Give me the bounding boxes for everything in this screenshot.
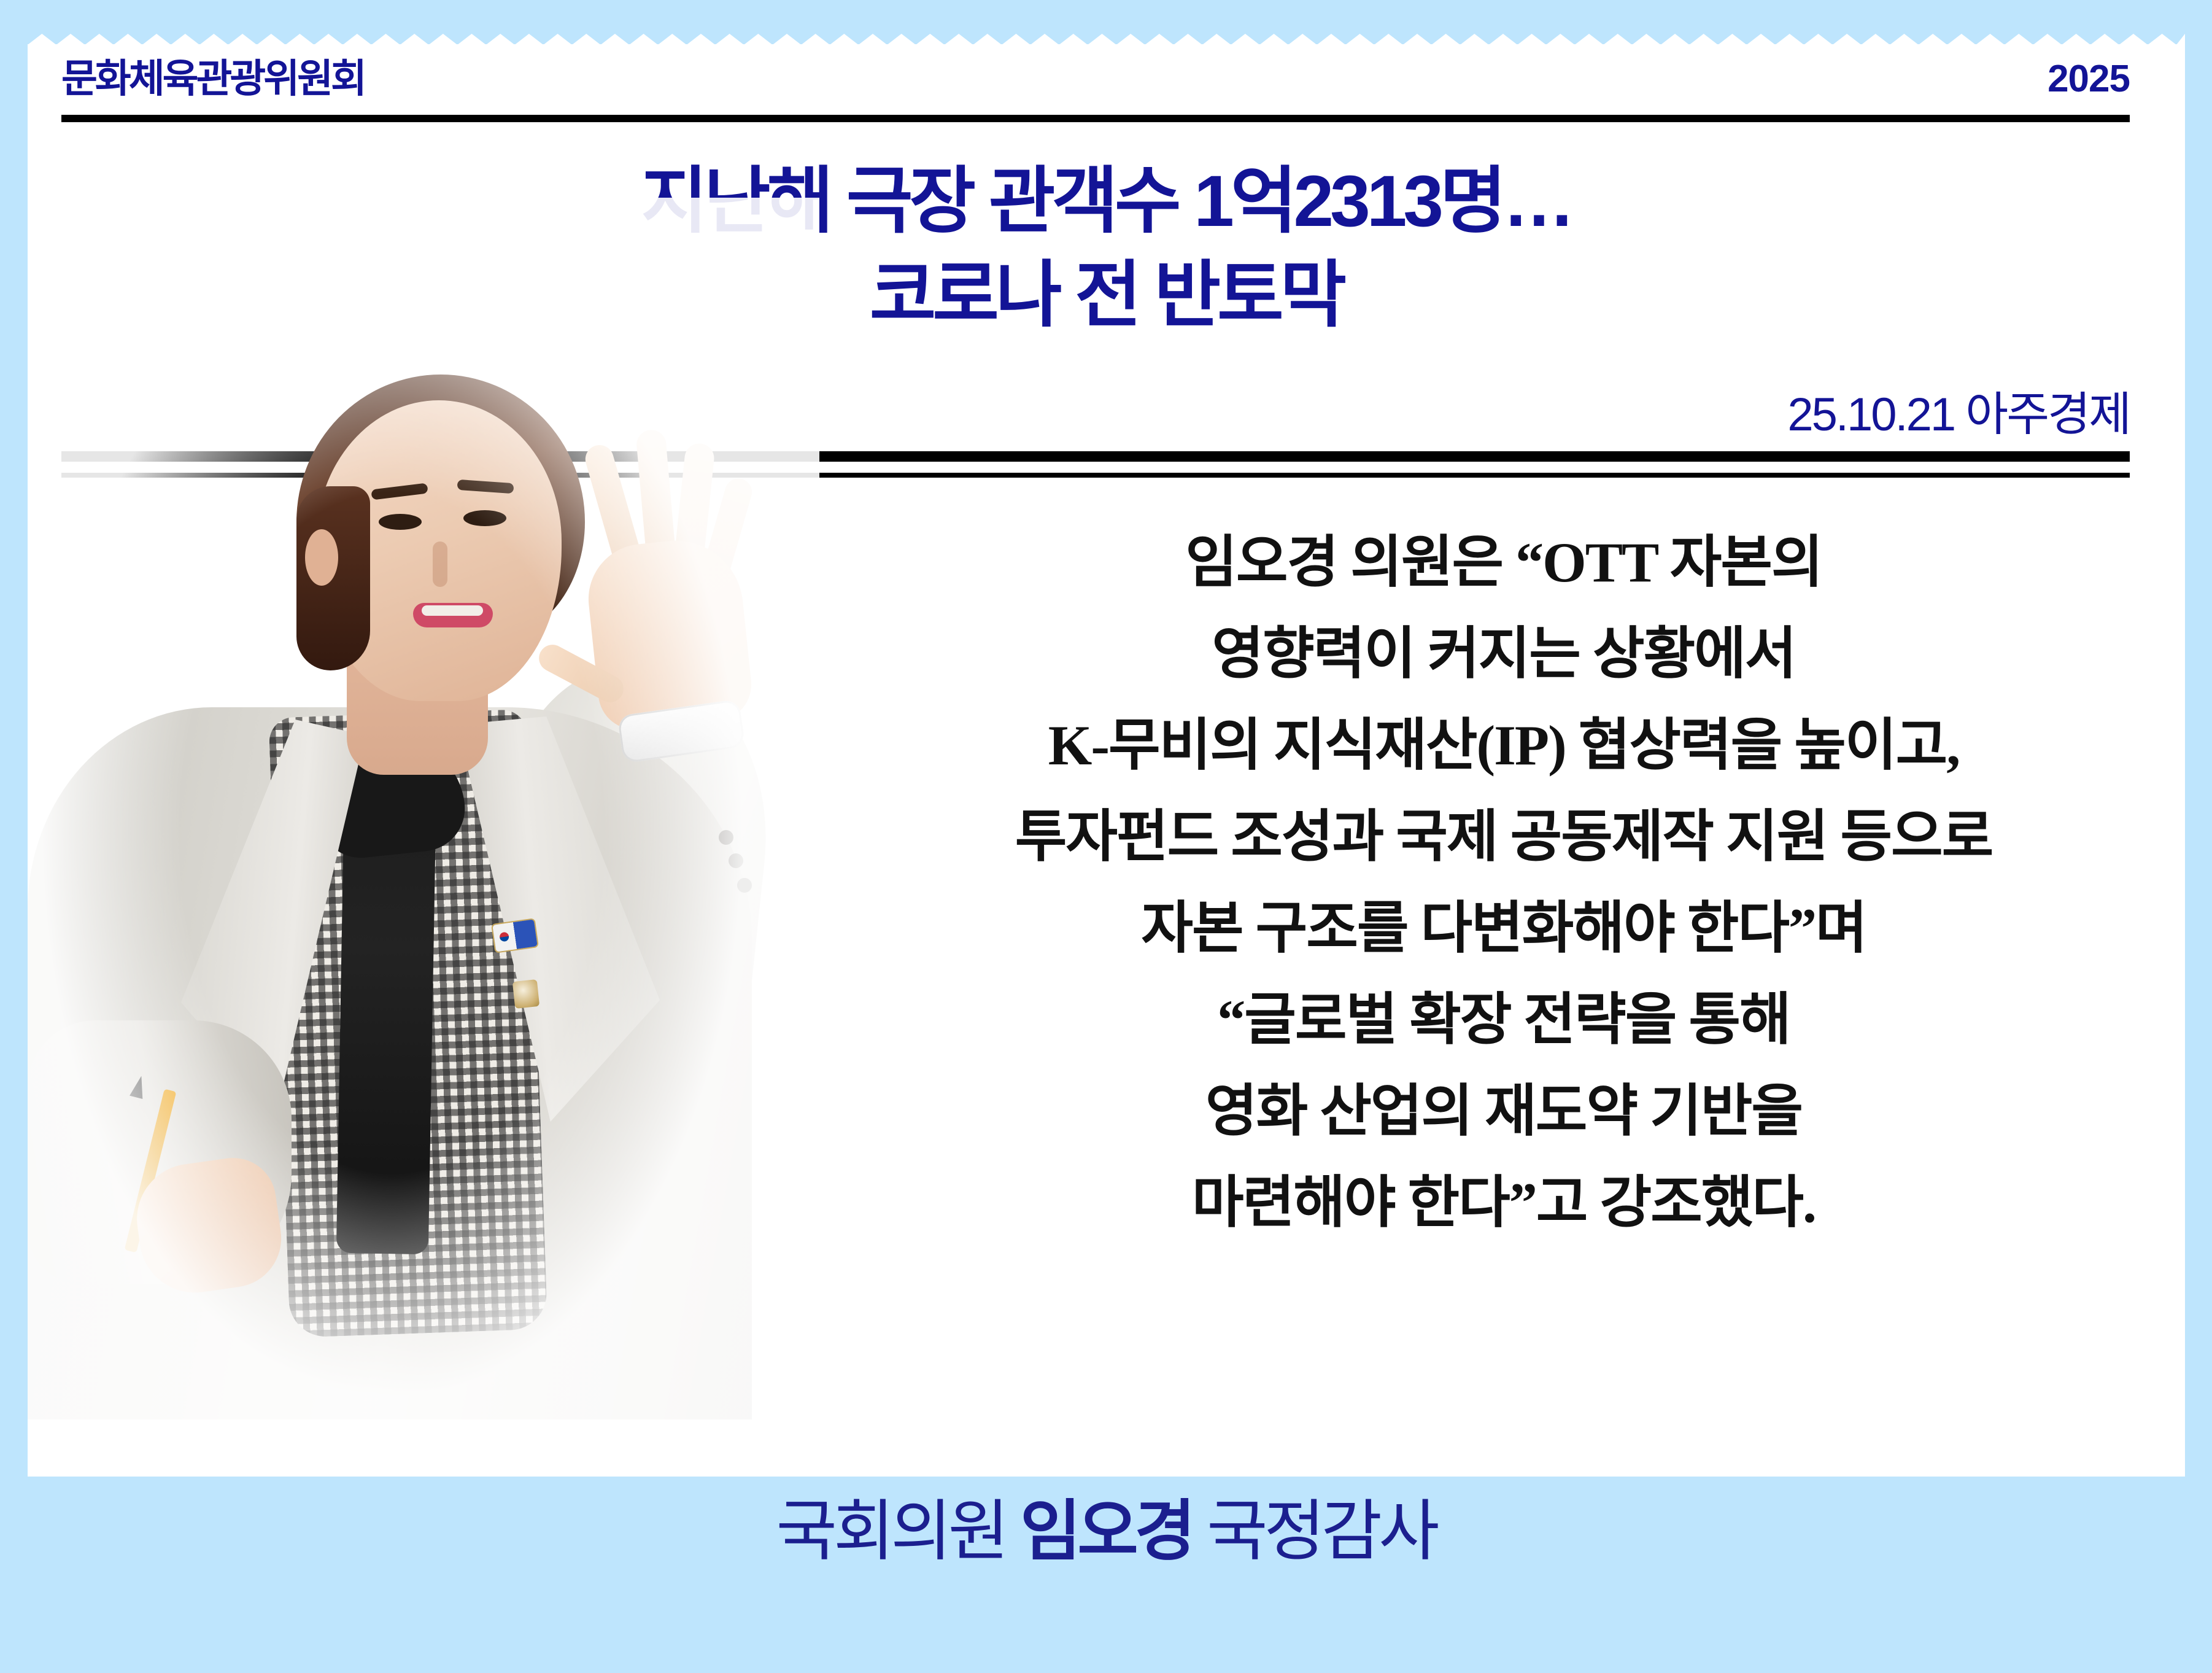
cuff-button-1: [719, 830, 733, 845]
nose: [433, 541, 447, 587]
assembly-badge-pin: [512, 979, 539, 1009]
header-divider: [61, 115, 2130, 122]
korean-flag-pin: [492, 919, 537, 952]
quote-line: 자본 구조를 다변화해야 한다”며: [862, 883, 2145, 974]
hair-side: [296, 486, 370, 670]
year-label: 2025: [2048, 60, 2130, 98]
portrait-photo: [28, 198, 819, 1419]
quote-line: 임오경 의원은 “OTT 자본의: [862, 517, 2145, 608]
committee-name: 문화체육관광위원회: [61, 59, 365, 98]
source-line: 25.10.21 아주경제: [1787, 392, 2130, 438]
footer-prefix: 국회의원: [776, 1494, 1005, 1568]
quote-line: K-무비의 지식재산(IP) 협상력을 높이고,: [862, 700, 2145, 791]
cuff-button-3: [737, 878, 752, 893]
quote-line: 영향력이 커지는 상황에서: [862, 608, 2145, 700]
quote-line: 투자펀드 조성과 국제 공동제작 지원 등으로: [862, 791, 2145, 883]
cuff-button-2: [729, 853, 743, 868]
footer-suffix: 국정감사: [1207, 1494, 1436, 1568]
quote-body: 임오경 의원은 “OTT 자본의 영향력이 커지는 상황에서 K-무비의 지식재…: [862, 517, 2145, 1249]
news-card: 문화체육관광위원회 2025 지난해 극장 관객수 1억2313명… 코로나 전…: [28, 44, 2185, 1477]
eye-left: [379, 514, 422, 530]
zigzag-top-edge: [28, 34, 2185, 45]
quote-line: 마련해야 한다”고 강조했다.: [862, 1157, 2145, 1249]
teeth: [422, 605, 483, 616]
footer-caption: 국회의원 임오경 국정감사: [0, 1498, 2212, 1564]
card-header: 문화체육관광위원회 2025: [61, 59, 2130, 98]
ear: [305, 529, 338, 586]
footer-member-name: 임오경: [1020, 1494, 1192, 1568]
quote-line: 영화 산업의 재도약 기반을: [862, 1066, 2145, 1157]
quote-line: “글로벌 확장 전략을 통해: [862, 974, 2145, 1066]
eye-right: [463, 510, 506, 526]
